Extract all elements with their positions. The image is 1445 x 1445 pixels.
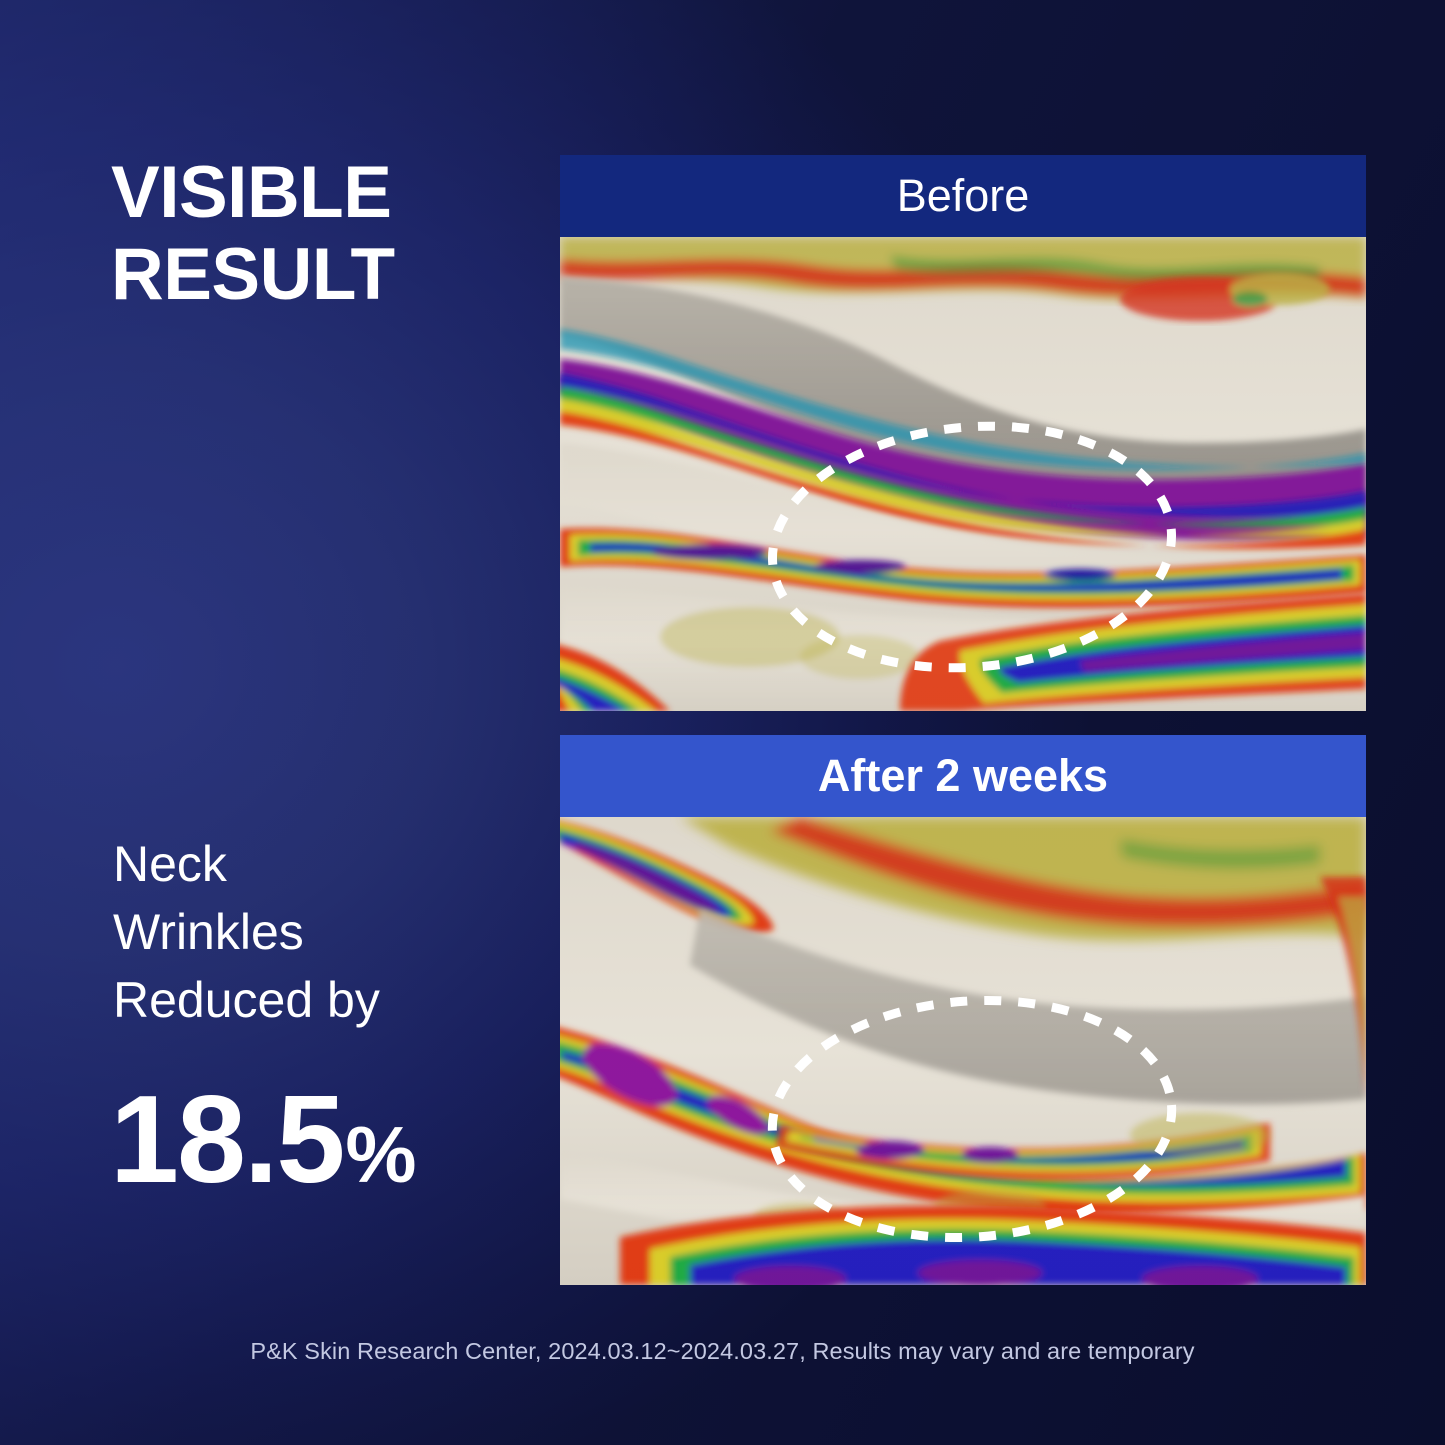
panel-before-label: Before (897, 170, 1030, 222)
stat-value: 18.5 % (110, 1078, 415, 1202)
stat-number: 18.5 (110, 1078, 343, 1202)
skin-topography-image-after (560, 817, 1366, 1285)
panel-before: Before (560, 155, 1366, 711)
stat-percent-sign: % (345, 1115, 415, 1195)
claim-line-3: Reduced by (113, 966, 543, 1034)
after-thermal-map (560, 817, 1366, 1285)
panel-before-header: Before (560, 155, 1366, 237)
claim-line-2: Wrinkles (113, 898, 543, 966)
infographic-root: VISIBLE RESULT Neck Wrinkles Reduced by … (0, 0, 1445, 1445)
skin-topography-image-before (560, 237, 1366, 711)
panel-after-label: After 2 weeks (818, 750, 1108, 802)
before-thermal-map (560, 237, 1366, 711)
claim-text: Neck Wrinkles Reduced by (113, 830, 543, 1034)
panel-after: After 2 weeks (560, 735, 1366, 1285)
page-title: VISIBLE RESULT (111, 152, 531, 316)
claim-line-1: Neck (113, 830, 543, 898)
footnote: P&K Skin Research Center, 2024.03.12~202… (0, 1338, 1445, 1365)
headline-line-2: RESULT (111, 234, 531, 316)
panel-after-header: After 2 weeks (560, 735, 1366, 817)
headline-line-1: VISIBLE (111, 152, 391, 233)
